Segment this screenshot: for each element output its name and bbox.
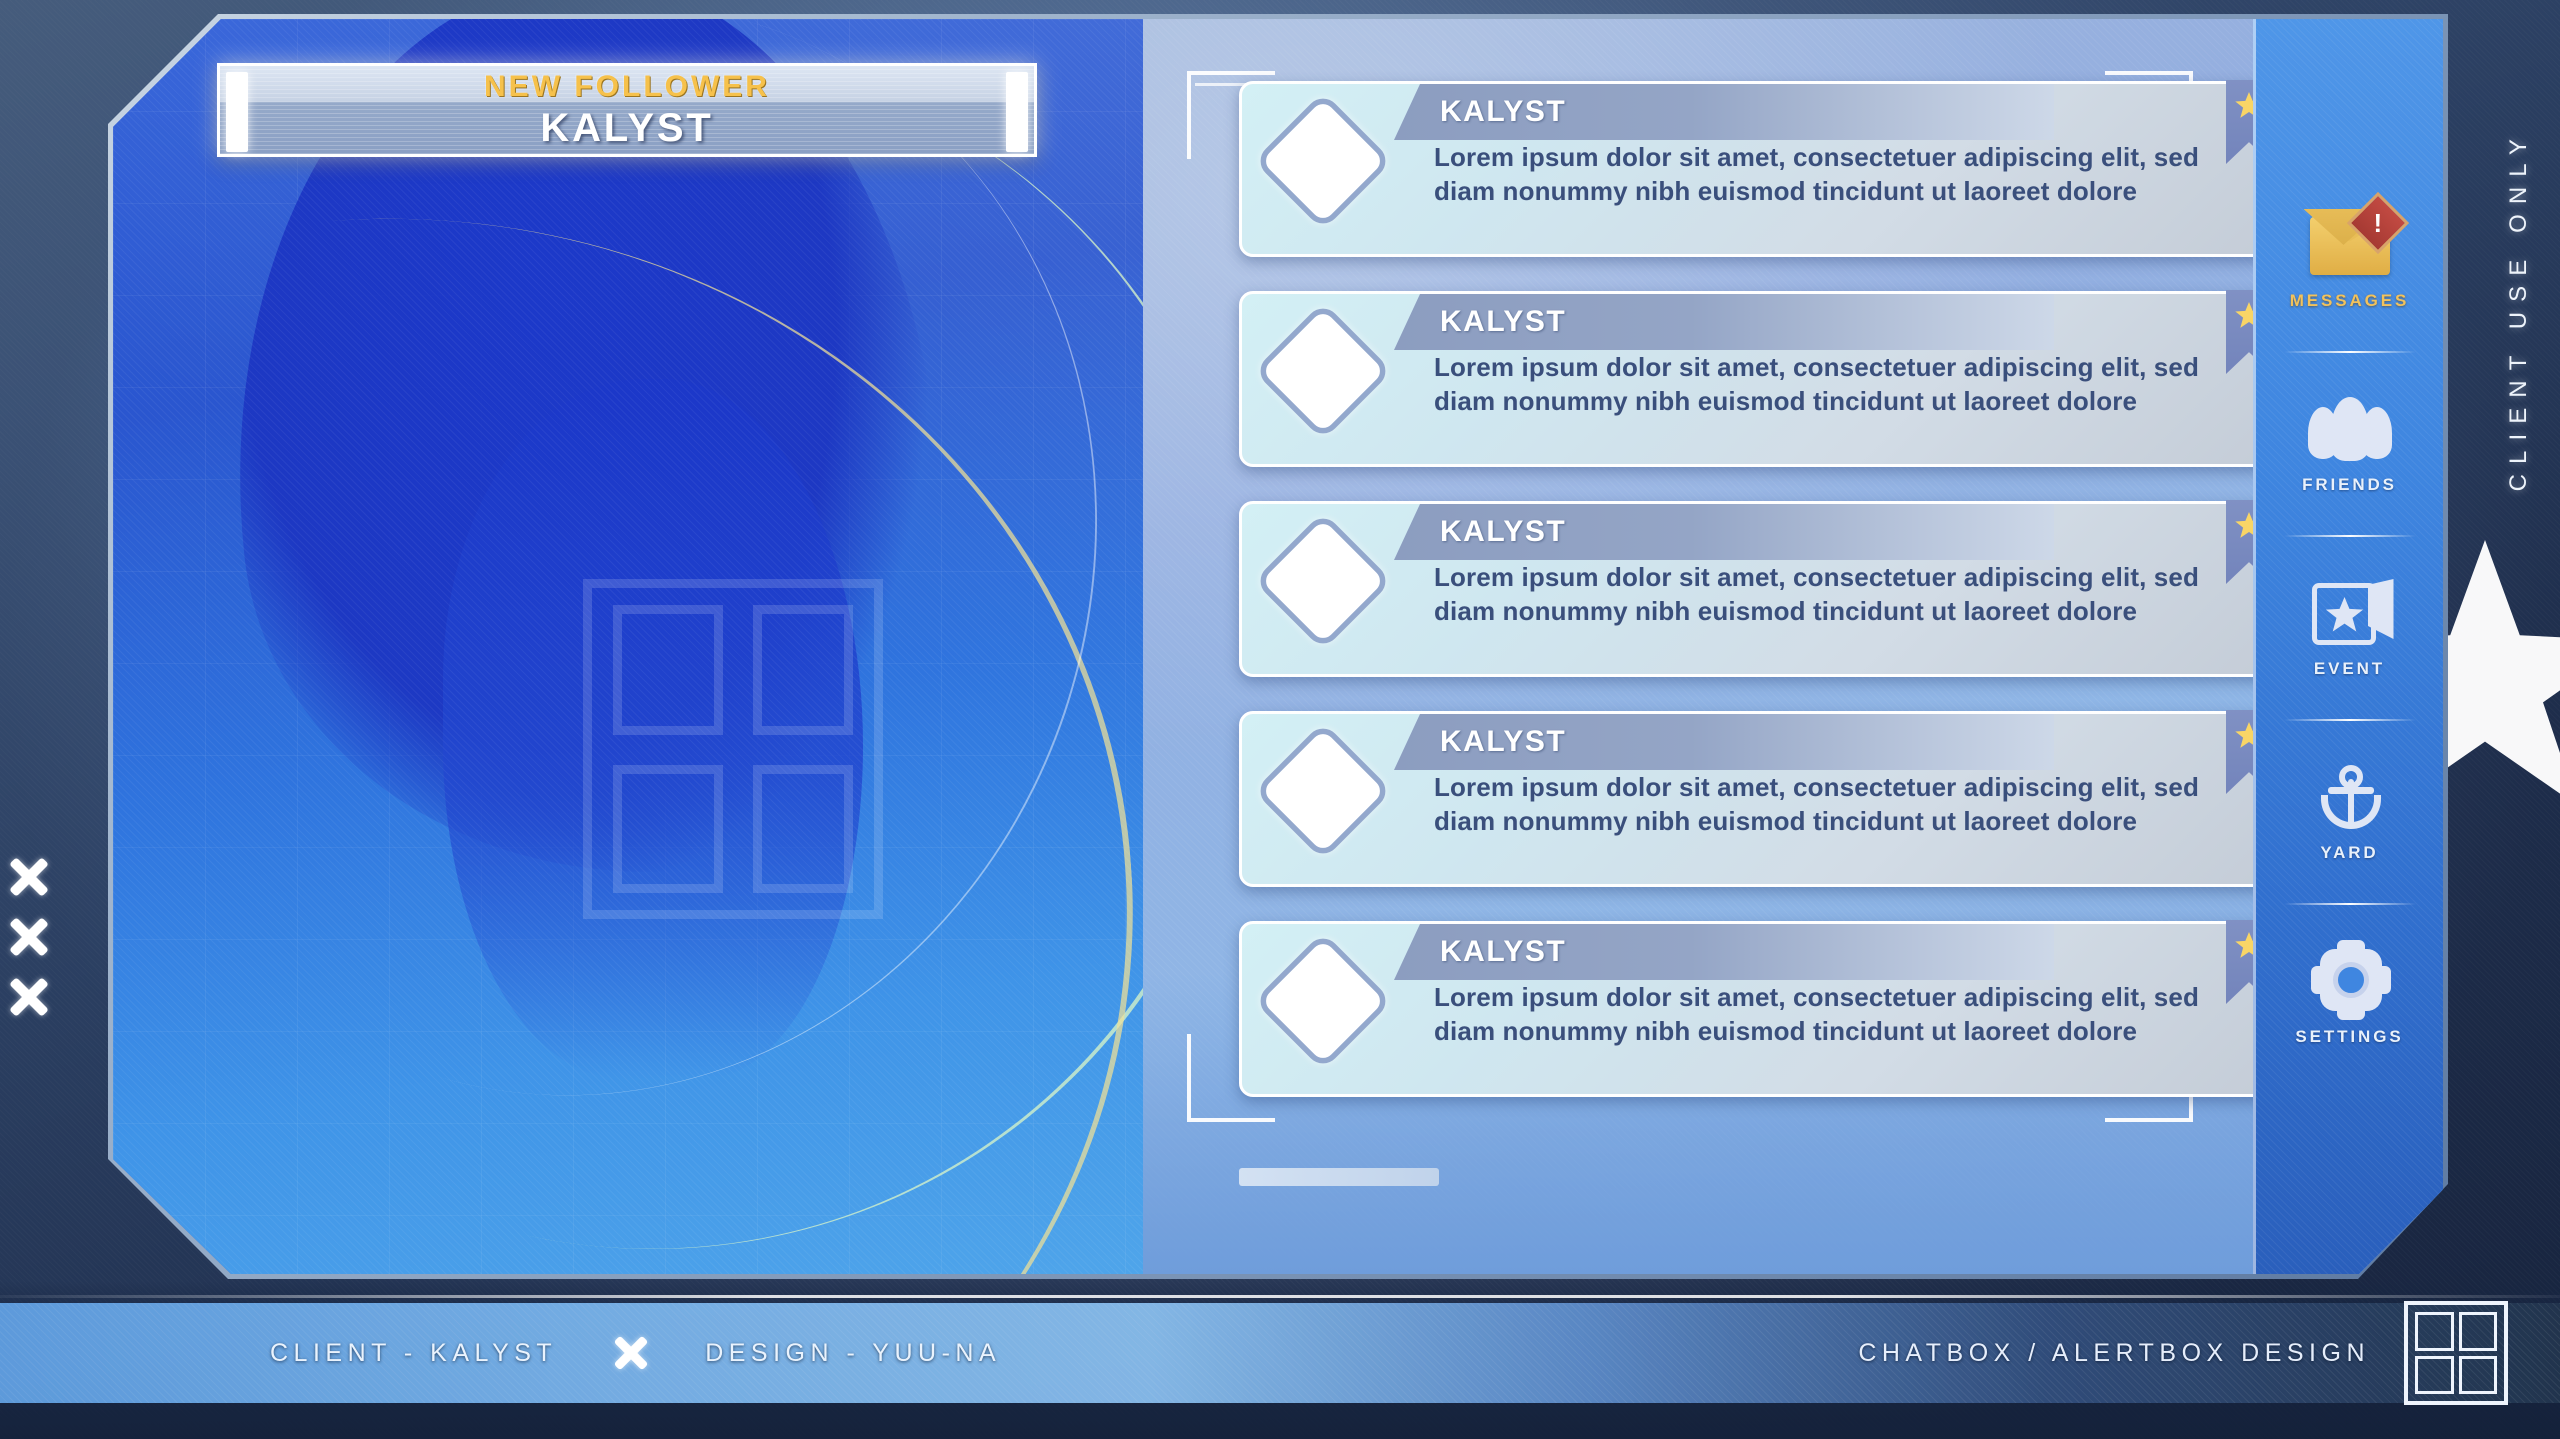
sidebar-nav: ! MESSAGES FRIENDS [2253, 19, 2443, 1274]
footer-design-credit: DESIGN - YUU-NA [705, 1339, 1001, 1368]
message-author: KALYST [1440, 935, 1566, 969]
envelope-icon: ! [2304, 209, 2396, 283]
footer-credits: CLIENT - KALYST DESIGN - YUU-NA [270, 1333, 1001, 1373]
message-card[interactable]: KALYSTLorem ipsum dolor sit amet, consec… [1239, 501, 2319, 677]
message-text: Lorem ipsum dolor sit amet, consectetuer… [1434, 980, 2244, 1048]
message-author-banner: KALYST [1394, 924, 2054, 980]
message-card[interactable]: KALYSTLorem ipsum dolor sit amet, consec… [1239, 291, 2319, 467]
alert-cap-left [226, 72, 248, 152]
sidebar-label-messages: MESSAGES [2290, 291, 2409, 311]
message-text: Lorem ipsum dolor sit amet, consectetuer… [1434, 560, 2244, 628]
footer-content: CLIENT - KALYST DESIGN - YUU-NA CHATBOX … [0, 1303, 2560, 1403]
message-text: Lorem ipsum dolor sit amet, consectetuer… [1434, 350, 2244, 418]
sidebar-item-friends[interactable]: FRIENDS [2265, 393, 2435, 495]
avatar [1254, 302, 1393, 441]
sidebar-item-yard[interactable]: YARD [2265, 761, 2435, 863]
main-panel-inner: NEW FOLLOWER KALYST MESSAGE BOARD KALYST… [113, 19, 2443, 1274]
sidebar-item-settings[interactable]: SETTINGS [2265, 945, 2435, 1047]
close-mark-3-icon[interactable] [6, 974, 52, 1020]
message-card[interactable]: KALYSTLorem ipsum dolor sit amet, consec… [1239, 81, 2319, 257]
gear-icon [2304, 945, 2396, 1019]
sidebar-label-settings: SETTINGS [2295, 1027, 2403, 1047]
nav-separator-4 [2284, 903, 2416, 905]
alert-badge-text: ! [2373, 207, 2382, 238]
alert-box: NEW FOLLOWER KALYST [217, 63, 1037, 157]
message-author: KALYST [1440, 725, 1566, 759]
message-text: Lorem ipsum dolor sit amet, consectetuer… [1434, 770, 2244, 838]
footer-project-label: CHATBOX / ALERTBOX DESIGN [1858, 1339, 2370, 1368]
alert-event-label: NEW FOLLOWER [484, 70, 770, 104]
sidebar-label-friends: FRIENDS [2302, 475, 2397, 495]
message-board: MESSAGE BOARD KALYSTLorem ipsum dolor si… [1143, 19, 2443, 1274]
nav-separator-1 [2284, 351, 2416, 353]
avatar [1254, 932, 1393, 1071]
character-art-area: NEW FOLLOWER KALYST [113, 19, 1173, 1274]
board-bottom-decoration [1239, 1168, 1439, 1186]
message-author: KALYST [1440, 305, 1566, 339]
message-author-banner: KALYST [1394, 714, 2054, 770]
footer-bar: CLIENT - KALYST DESIGN - YUU-NA CHATBOX … [0, 1281, 2560, 1439]
art-hatch-texture [113, 19, 1173, 1274]
nav-separator-2 [2284, 535, 2416, 537]
anchor-icon [2304, 761, 2396, 835]
message-author: KALYST [1440, 95, 1566, 129]
message-card[interactable]: KALYSTLorem ipsum dolor sit amet, consec… [1239, 921, 2319, 1097]
x-icon [611, 1333, 651, 1373]
footer-client-credit: CLIENT - KALYST [270, 1339, 557, 1368]
screen-root: CLIENT USE ONLY [0, 0, 2560, 1439]
alert-cap-right [1006, 72, 1028, 152]
message-text: Lorem ipsum dolor sit amet, consectetuer… [1434, 140, 2244, 208]
client-use-only-label: CLIENT USE ONLY [2492, 40, 2546, 580]
footer-top-line [0, 1295, 2560, 1298]
star-card-icon [2304, 577, 2396, 651]
client-use-only-text: CLIENT USE ONLY [2505, 129, 2533, 491]
sidebar-label-event: EVENT [2314, 659, 2385, 679]
message-author: KALYST [1440, 515, 1566, 549]
nav-separator-3 [2284, 719, 2416, 721]
message-author-banner: KALYST [1394, 504, 2054, 560]
yuu-na-logo-icon [2404, 1301, 2508, 1405]
sidebar-label-yard: YARD [2320, 843, 2378, 863]
main-panel-frame: NEW FOLLOWER KALYST MESSAGE BOARD KALYST… [108, 14, 2448, 1279]
alert-username: KALYST [540, 106, 713, 151]
people-icon [2304, 393, 2396, 467]
close-mark-1-icon[interactable] [6, 854, 52, 900]
message-author-banner: KALYST [1394, 84, 2054, 140]
message-card[interactable]: KALYSTLorem ipsum dolor sit amet, consec… [1239, 711, 2319, 887]
close-marks-group [0, 840, 78, 1040]
avatar [1254, 722, 1393, 861]
avatar [1254, 92, 1393, 231]
close-mark-2-icon[interactable] [6, 914, 52, 960]
sidebar-item-event[interactable]: EVENT [2265, 577, 2435, 679]
message-list[interactable]: KALYSTLorem ipsum dolor sit amet, consec… [1239, 81, 2319, 1131]
message-author-banner: KALYST [1394, 294, 2054, 350]
avatar [1254, 512, 1393, 651]
sidebar-item-messages[interactable]: ! MESSAGES [2265, 209, 2435, 311]
footer-right-group: CHATBOX / ALERTBOX DESIGN [1858, 1301, 2508, 1405]
